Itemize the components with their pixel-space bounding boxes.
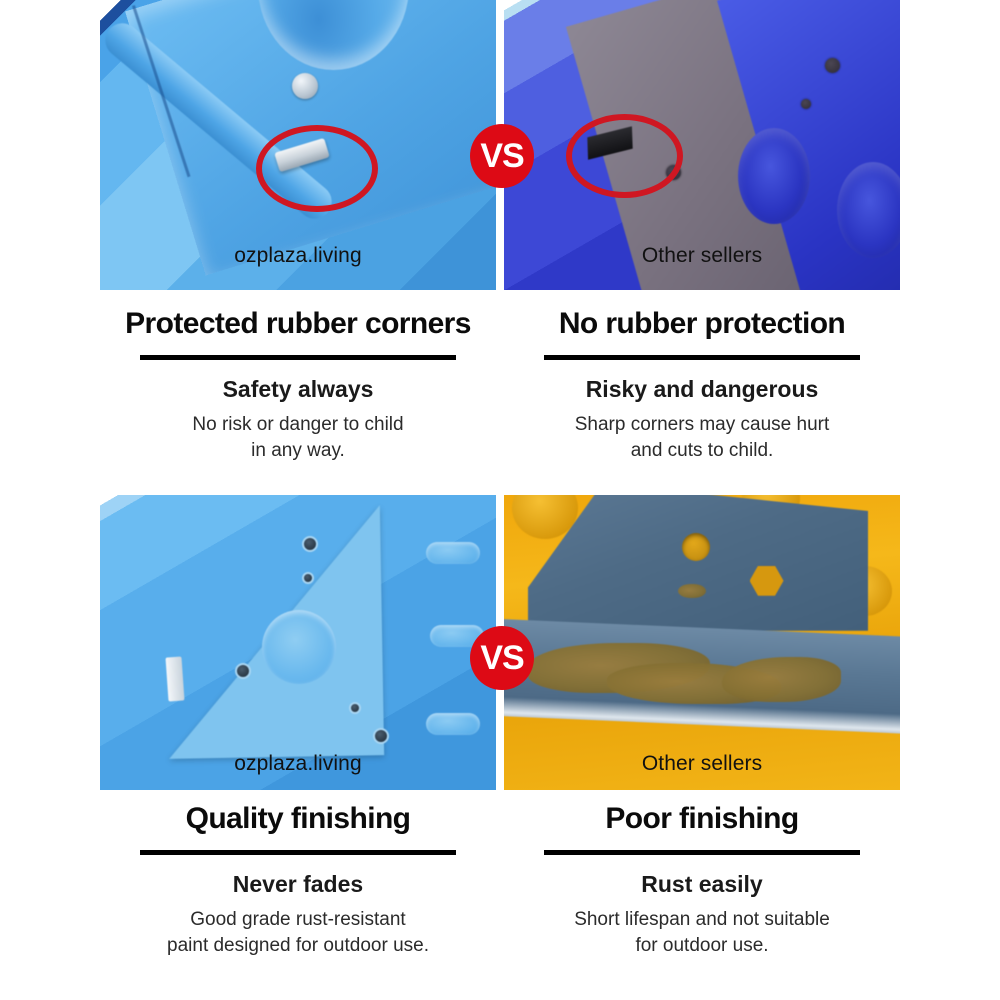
feature-description-line2: in any way. [100,438,496,464]
rivet-hole-shape [373,728,389,744]
photo-detail-layer [504,495,900,790]
product-photo-rubber-corner: ozplaza.living [100,0,496,290]
bolt-shape [801,99,811,109]
product-photo-quality-finish: ozplaza.living [100,495,496,790]
photo-detail-layer [100,495,496,790]
metal-bracket-shape [528,495,869,631]
feature-subtitle: Risky and dangerous [504,375,900,403]
text-block-quality-finishing: Quality finishing Never fades Good grade… [100,800,496,959]
vs-badge: VS [470,124,534,188]
feature-description-line1: No risk or danger to child [100,412,496,438]
feature-description-line2: for outdoor use. [504,933,900,959]
feature-description-line1: Good grade rust-resistant [100,907,496,933]
text-block-no-protection: No rubber protection Risky and dangerous… [504,305,900,464]
seat-dimple-shape [426,713,480,735]
seat-dimple-shape [738,128,810,224]
photo-caption-brand: ozplaza.living [100,244,496,268]
feature-subtitle: Safety always [100,375,496,403]
screw-head-shape [292,73,318,99]
divider-rule [544,355,860,360]
competitor-photo-rusted-finish: Other sellers [504,495,900,790]
photo-caption-competitor: Other sellers [504,244,900,268]
rust-patch [722,657,841,701]
vs-badge: VS [470,626,534,690]
photo-caption-brand: ozplaza.living [100,752,496,776]
divider-rule [140,850,456,855]
bracket-boss-circle [262,610,336,684]
seat-dimple-shape [258,0,408,70]
feature-title: Poor finishing [504,800,900,838]
feature-description-line1: Sharp corners may cause hurt [504,412,900,438]
comparison-row-corners: ozplaza.living Other sellers VS Protecte… [0,0,1000,495]
feature-title: Quality finishing [100,800,496,838]
comparison-infographic: ozplaza.living Other sellers VS Protecte… [0,0,1000,1000]
rubber-corner-cap [166,657,185,702]
feature-description-line2: paint designed for outdoor use. [100,933,496,959]
photo-caption-competitor: Other sellers [504,752,900,776]
text-block-poor-finishing: Poor finishing Rust easily Short lifespa… [504,800,900,959]
annotation-ellipse-sharp-corner [566,114,683,198]
text-block-protected-corners: Protected rubber corners Safety always N… [100,305,496,464]
divider-rule [544,850,860,855]
seat-dimple-shape [426,542,480,564]
rust-patch [678,584,706,599]
rivet-hole-shape [302,572,314,584]
annotation-ellipse-rubber-corner [256,125,378,212]
bolt-shape [825,58,840,73]
divider-rule [140,355,456,360]
rivet-hole-shape [349,702,361,714]
rivet-hole-shape [235,663,251,679]
feature-subtitle: Rust easily [504,870,900,898]
feature-title: Protected rubber corners [100,305,496,343]
competitor-photo-sharp-corner: Other sellers [504,0,900,290]
comparison-row-finishing: ozplaza.living Other sellers VS Q [0,495,1000,1000]
feature-description-line2: and cuts to child. [504,438,900,464]
feature-title: No rubber protection [504,305,900,343]
feature-description-line1: Short lifespan and not suitable [504,907,900,933]
feature-subtitle: Never fades [100,870,496,898]
